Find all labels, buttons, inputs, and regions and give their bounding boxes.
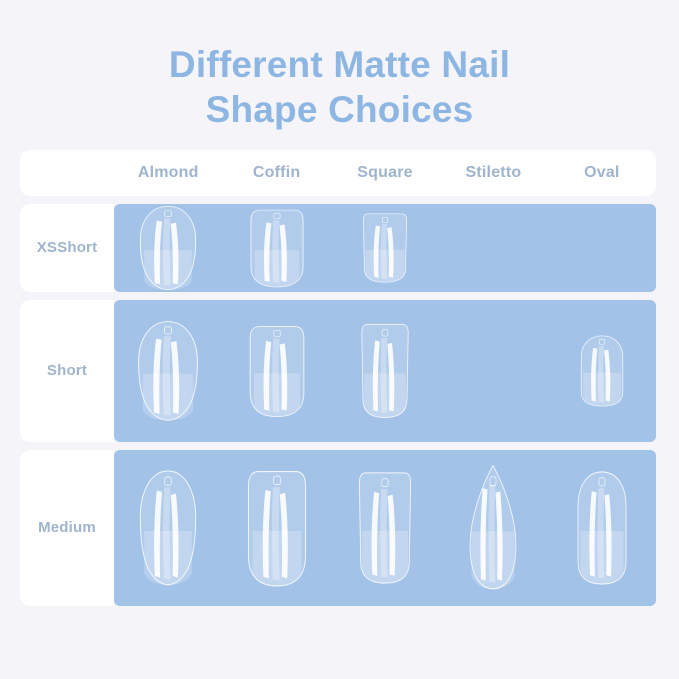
table-header-row: AlmondCoffinSquareStilettoOval (20, 150, 656, 196)
nail-square-icon (353, 470, 417, 586)
nail-shape-chart-page: Different Matte Nail Shape Choices Almon… (0, 0, 679, 679)
column-header-stiletto[interactable]: Stiletto (439, 164, 547, 182)
nail-cell-xs-short-square[interactable] (331, 204, 439, 292)
nail-stiletto-icon (463, 464, 523, 592)
row-panel-xs-short (114, 204, 656, 292)
nail-cell-medium-almond[interactable] (114, 450, 222, 606)
nail-cell-short-stiletto[interactable] (439, 300, 547, 442)
page-title: Different Matte Nail Shape Choices (0, 42, 679, 132)
page-title-line-1: Different Matte Nail (0, 42, 679, 87)
row-panel-medium (114, 450, 656, 606)
nail-cell-short-square[interactable] (331, 300, 439, 442)
column-header-oval[interactable]: Oval (548, 164, 656, 182)
table-row-short: Short (20, 300, 656, 442)
row-label-line-1: Medium (38, 518, 96, 538)
nail-cell-xs-short-coffin[interactable] (222, 204, 330, 292)
nail-coffin-icon (243, 467, 311, 589)
nail-oval-icon (572, 469, 632, 587)
nail-coffin-icon (245, 323, 309, 419)
nail-square-icon (356, 322, 414, 420)
nail-almond-icon (135, 468, 201, 588)
nail-cell-medium-square[interactable] (331, 450, 439, 606)
header-cell-group: AlmondCoffinSquareStilettoOval (114, 150, 656, 196)
nail-cell-xs-short-oval[interactable] (548, 204, 656, 292)
nail-cell-xs-short-stiletto[interactable] (439, 204, 547, 292)
row-panel-short (114, 300, 656, 442)
column-header-square[interactable]: Square (331, 164, 439, 182)
row-label-medium[interactable]: Medium (20, 450, 114, 606)
nail-coffin-icon (246, 207, 308, 289)
header-corner-spacer (20, 150, 114, 196)
nail-cell-medium-oval[interactable] (548, 450, 656, 606)
nail-cell-short-coffin[interactable] (222, 300, 330, 442)
nail-cell-xs-short-almond[interactable] (114, 204, 222, 292)
nail-cell-medium-stiletto[interactable] (439, 450, 547, 606)
row-label-line-2: Short (57, 238, 97, 258)
row-label-short[interactable]: Short (20, 300, 114, 442)
nail-square-icon (358, 212, 412, 284)
nail-cell-short-oval[interactable] (548, 300, 656, 442)
nail-cell-medium-coffin[interactable] (222, 450, 330, 606)
nail-cell-short-almond[interactable] (114, 300, 222, 442)
shape-size-table: AlmondCoffinSquareStilettoOval XSShortSh… (20, 150, 656, 606)
row-label-line-1: Short (47, 361, 87, 381)
nail-oval-icon (576, 334, 628, 408)
column-header-almond[interactable]: Almond (114, 164, 222, 182)
table-row-xs-short: XSShort (20, 204, 656, 292)
table-body: XSShortShortMedium (20, 204, 656, 606)
column-header-coffin[interactable]: Coffin (222, 164, 330, 182)
row-label-line-1: XS (37, 238, 57, 258)
row-label-xs-short[interactable]: XSShort (20, 204, 114, 292)
nail-almond-icon (135, 204, 201, 292)
nail-almond-icon (133, 319, 203, 423)
table-row-medium: Medium (20, 450, 656, 606)
page-title-line-2: Shape Choices (0, 87, 679, 132)
